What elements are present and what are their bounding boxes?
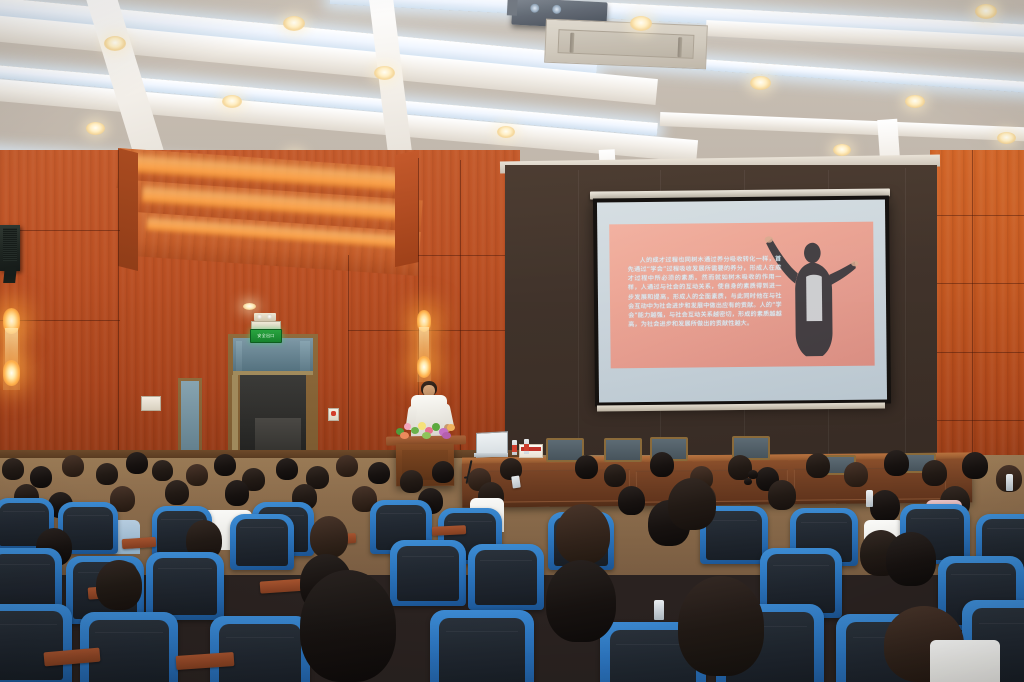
wall-seam	[930, 420, 1024, 421]
ceiling-downlight	[283, 16, 305, 31]
wall-speaker-icon	[0, 225, 20, 271]
backdrop-panel-line	[578, 170, 579, 460]
wall-seam	[118, 150, 119, 480]
projection-screen: 人的成才过程也同树木通过养分吸收转化一样，首先通过“学会”过程吸收发展所需要的养…	[593, 195, 891, 406]
water-bottle	[524, 439, 529, 454]
bottle-label	[512, 445, 517, 452]
audience-head	[870, 490, 900, 522]
alarm-indicator	[331, 411, 336, 416]
ceiling-downlight	[750, 76, 771, 90]
audience-head	[575, 455, 598, 479]
wall-seam	[348, 255, 349, 480]
soffit-return	[118, 148, 138, 271]
audience-head	[922, 460, 947, 486]
emergency-lamp	[267, 314, 272, 319]
ceiling-downlight	[222, 95, 242, 108]
flower-petal	[442, 432, 451, 439]
audience-head	[884, 450, 909, 476]
seat-cushion	[236, 519, 288, 566]
water-bottle	[654, 600, 664, 620]
soffit-return	[395, 150, 419, 267]
emergency-light	[254, 313, 276, 321]
flower-petal	[447, 424, 455, 431]
wall-sconce	[417, 308, 431, 382]
ceiling-downlight	[497, 126, 515, 138]
slide-text: 人的成才过程也同树木通过养分吸收转化一样，首先通过“学会”过程吸收发展所需要的养…	[628, 254, 782, 330]
seat-cushion	[439, 618, 524, 682]
seat-tablet-arm[interactable]	[432, 525, 466, 536]
projector-lens	[530, 3, 539, 12]
flower-leaf	[422, 432, 431, 439]
sconce-bulb	[417, 356, 431, 378]
ceiling-downlight	[997, 132, 1016, 144]
audience-head	[604, 464, 626, 487]
seat-cushion	[706, 511, 762, 560]
audience-head	[844, 462, 868, 487]
wall-seam	[972, 150, 973, 480]
audience-head	[886, 532, 936, 586]
auditorium-seat[interactable]	[468, 544, 544, 610]
audience-head	[400, 470, 423, 493]
wall-seam	[348, 330, 520, 331]
ac-vent-slot	[570, 33, 575, 53]
audience-head	[96, 463, 118, 485]
auditorium-seat[interactable]	[210, 616, 310, 682]
audience-head	[96, 560, 142, 610]
auditorium-seat[interactable]	[430, 610, 534, 682]
ceiling-downlight	[86, 122, 105, 135]
audience-head	[668, 478, 716, 530]
auditorium-seat[interactable]	[230, 514, 294, 570]
seat-cushion	[397, 546, 459, 601]
sconce-bulb	[3, 360, 20, 386]
audience-head-foreground	[678, 576, 764, 676]
audience-torso	[930, 640, 1000, 682]
ac-vent-grille	[558, 29, 695, 59]
emergency-lamp	[257, 314, 262, 319]
audience-head-foreground	[546, 560, 616, 642]
audience-head	[152, 460, 173, 481]
audience-head	[432, 461, 454, 483]
audience-head	[336, 455, 358, 477]
audience-head	[368, 462, 390, 484]
ceiling-downlight	[243, 303, 256, 310]
water-bottle	[512, 440, 517, 455]
projector-mount	[507, 0, 518, 16]
audience-head	[62, 455, 84, 477]
audience-head	[618, 486, 645, 515]
water-bottle	[866, 490, 873, 507]
auditorium-seat[interactable]	[146, 552, 224, 620]
seat-cushion	[0, 611, 63, 680]
audience-head	[962, 452, 988, 479]
flower-petal	[404, 423, 411, 430]
audience-head	[2, 458, 24, 480]
audience-hair-bun	[744, 478, 752, 485]
speaker-bracket	[3, 267, 16, 283]
audience-head	[225, 480, 249, 506]
water-bottle	[1006, 474, 1013, 491]
door-side-glass	[300, 341, 310, 371]
right-wood-wall	[930, 150, 1024, 480]
presentation-slide: 人的成才过程也同树木通过养分吸收转化一样，首先通过“学会”过程吸收发展所需要的养…	[609, 222, 875, 369]
seat-cushion	[475, 550, 537, 605]
ceiling-downlight	[104, 36, 126, 51]
ceiling-downlight	[833, 144, 851, 156]
wall-seam	[930, 283, 1024, 284]
projector-lens	[552, 5, 561, 14]
screen-surface: 人的成才过程也同树木通过养分吸收转化一样，首先通过“学会”过程吸收发展所需要的养…	[597, 199, 887, 402]
seat-cushion	[89, 620, 169, 682]
audience-head	[186, 464, 208, 486]
seat-cushion	[0, 554, 55, 609]
wall-plate	[141, 396, 161, 411]
wall-sconce	[3, 306, 20, 390]
audience-head	[165, 480, 189, 505]
exit-sign-label: 安全出口	[257, 334, 274, 338]
flower-petal	[400, 432, 409, 439]
ac-vent	[544, 19, 708, 70]
ceiling-downlight	[975, 4, 997, 19]
audience-head-foreground	[300, 570, 396, 682]
ac-vent-slot	[677, 37, 682, 57]
seat-cushion	[153, 558, 217, 615]
wall-seam	[930, 215, 1024, 216]
audience-head	[126, 452, 148, 474]
auditorium-seat[interactable]	[0, 604, 72, 682]
speaker-grille	[3, 228, 17, 261]
audience-head	[30, 466, 52, 488]
name-card	[519, 444, 543, 458]
audience-head	[276, 458, 298, 480]
audience-head	[214, 454, 236, 476]
backdrop-panel-line	[905, 168, 906, 460]
wall-seam	[930, 352, 1024, 353]
exit-sign: 安全出口	[250, 329, 282, 343]
laptop-base[interactable]	[474, 453, 508, 457]
audience-head	[650, 452, 674, 477]
flower-arrangement	[392, 420, 462, 442]
fire-alarm-box	[328, 408, 339, 421]
door-side-glass	[236, 341, 242, 371]
ceiling-downlight	[905, 95, 925, 108]
stage-chair[interactable]	[604, 438, 642, 462]
audience-head	[806, 453, 830, 478]
ceiling-downlight	[374, 66, 395, 80]
smartphone[interactable]	[511, 476, 521, 489]
wall-seam	[460, 160, 461, 460]
audience-head	[768, 480, 796, 510]
ceiling-downlight	[630, 16, 652, 31]
auditorium-scene: 安全出口	[0, 0, 1024, 682]
bottle-label	[524, 444, 529, 451]
auditorium-seat[interactable]	[390, 540, 466, 606]
audience-head	[556, 504, 610, 564]
audience-head	[310, 516, 348, 558]
